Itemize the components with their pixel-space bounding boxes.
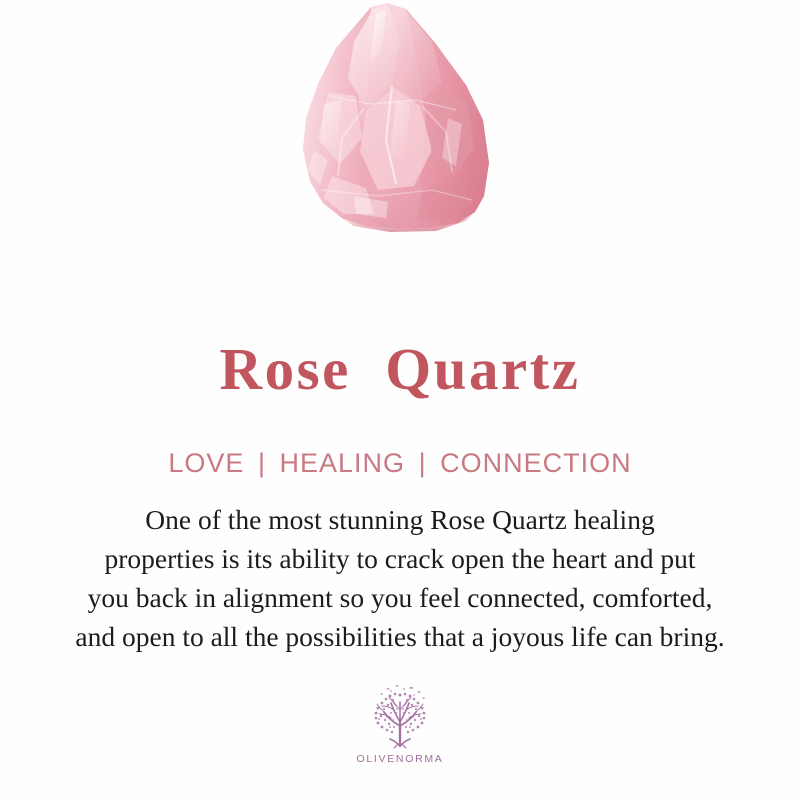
keyword-healing: HEALING bbox=[280, 448, 406, 478]
tree-of-life-icon bbox=[360, 682, 440, 752]
keyword-love: LOVE bbox=[168, 448, 244, 478]
description-line: One of the most stunning Rose Quartz hea… bbox=[34, 500, 766, 539]
keyword-connection: CONNECTION bbox=[440, 448, 632, 478]
rose-quartz-crystal-icon bbox=[270, 0, 530, 300]
page-title: Rose Quartz bbox=[0, 338, 800, 400]
keyword-separator: | bbox=[414, 448, 432, 478]
description-line: and open to all the possibilities that a… bbox=[34, 617, 766, 656]
description-line: you back in alignment so you feel connec… bbox=[34, 578, 766, 617]
brand-name: OLIVENORMA bbox=[0, 753, 800, 765]
brand-logo: OLIVENORMA bbox=[0, 682, 800, 765]
description-line: properties is its ability to crack open … bbox=[34, 539, 766, 578]
crystal-image-container bbox=[0, 0, 800, 300]
description-text: One of the most stunning Rose Quartz hea… bbox=[34, 500, 766, 656]
product-info-card: Rose Quartz LOVE | HEALING | CONNECTION … bbox=[0, 0, 800, 800]
keyword-tagline: LOVE | HEALING | CONNECTION bbox=[0, 447, 800, 479]
keyword-separator: | bbox=[253, 448, 271, 478]
